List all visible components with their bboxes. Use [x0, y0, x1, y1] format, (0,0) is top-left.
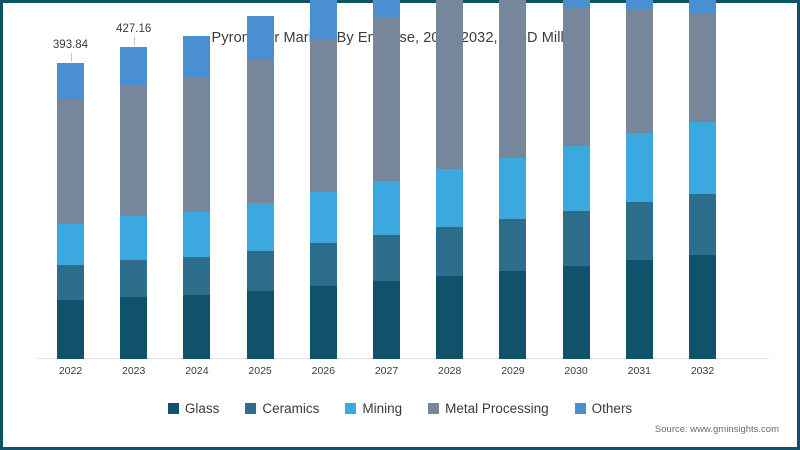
x-axis-tick-2029: 2029	[501, 365, 524, 377]
bar-segment-ceramics[interactable]	[310, 243, 337, 286]
bar-segment-mining[interactable]	[436, 169, 463, 227]
bar-segment-metal-processing[interactable]	[689, 14, 716, 122]
legend-item-glass[interactable]: Glass	[168, 401, 220, 416]
bar-segment-glass[interactable]	[499, 271, 526, 359]
legend-label: Metal Processing	[445, 401, 549, 416]
bar-segment-mining[interactable]	[120, 216, 147, 260]
bar-group-2030[interactable]: 2030	[563, 63, 590, 359]
bar-segment-metal-processing[interactable]	[183, 77, 210, 212]
bar-stack	[436, 0, 463, 359]
bar-segment-ceramics[interactable]	[626, 202, 653, 260]
bar-group-2028[interactable]: 2028	[436, 63, 463, 359]
bar-segment-others[interactable]	[120, 47, 147, 85]
value-leader-line	[134, 37, 135, 46]
bar-segment-metal-processing[interactable]	[57, 100, 84, 224]
bar-group-2027[interactable]: 2027	[373, 63, 400, 359]
bar-segment-mining[interactable]	[563, 146, 590, 211]
bar-group-2022[interactable]: 393.842022	[57, 63, 84, 359]
value-label-2022: 393.84	[53, 39, 88, 51]
legend-swatch-icon	[345, 403, 356, 414]
bar-segment-others[interactable]	[626, 0, 653, 9]
legend-swatch-icon	[245, 403, 256, 414]
bar-segment-mining[interactable]	[626, 133, 653, 202]
bar-group-2029[interactable]: 2029	[499, 63, 526, 359]
bar-segment-ceramics[interactable]	[436, 227, 463, 276]
legend-swatch-icon	[168, 403, 179, 414]
bar-segment-others[interactable]	[373, 0, 400, 17]
x-axis-tick-2032: 2032	[691, 365, 714, 377]
bar-segment-metal-processing[interactable]	[120, 85, 147, 216]
bar-segment-others[interactable]	[563, 0, 590, 8]
bar-segment-glass[interactable]	[436, 276, 463, 359]
legend-label: Mining	[362, 401, 402, 416]
bar-stack	[120, 47, 147, 359]
legend-label: Ceramics	[262, 401, 319, 416]
bar-segment-ceramics[interactable]	[120, 260, 147, 297]
bar-segment-others[interactable]	[57, 63, 84, 100]
bar-segment-mining[interactable]	[689, 122, 716, 194]
bar-segment-mining[interactable]	[183, 212, 210, 257]
bar-segment-mining[interactable]	[247, 203, 274, 251]
bar-segment-metal-processing[interactable]	[310, 39, 337, 192]
bar-stack	[499, 0, 526, 359]
bar-segment-metal-processing[interactable]	[563, 8, 590, 146]
x-axis-tick-2030: 2030	[564, 365, 587, 377]
x-axis-tick-2023: 2023	[122, 365, 145, 377]
source-note: Source: www.gminsights.com	[655, 424, 779, 435]
bar-stack	[310, 0, 337, 359]
bar-segment-ceramics[interactable]	[247, 251, 274, 291]
bar-segment-others[interactable]	[247, 16, 274, 60]
bar-segment-glass[interactable]	[563, 266, 590, 359]
bar-segment-glass[interactable]	[310, 286, 337, 359]
chart-frame: Pyrometer Market, By End-Use, 2022-2032,…	[0, 0, 800, 450]
x-axis-tick-2027: 2027	[375, 365, 398, 377]
bar-stack	[373, 0, 400, 359]
legend-item-mining[interactable]: Mining	[345, 401, 402, 416]
bar-stack	[689, 0, 716, 359]
legend-label: Others	[592, 401, 633, 416]
plot-area: 393.842022427.16202320242025202620272028…	[37, 63, 769, 359]
bar-stack	[626, 0, 653, 359]
bar-segment-ceramics[interactable]	[183, 257, 210, 295]
bar-segment-mining[interactable]	[373, 181, 400, 235]
legend-swatch-icon	[428, 403, 439, 414]
bar-segment-ceramics[interactable]	[373, 235, 400, 281]
bar-group-2025[interactable]: 2025	[247, 63, 274, 359]
x-axis-tick-2024: 2024	[185, 365, 208, 377]
bar-group-2024[interactable]: 2024	[183, 63, 210, 359]
bar-group-2031[interactable]: 2031	[626, 63, 653, 359]
bar-segment-metal-processing[interactable]	[499, 0, 526, 158]
bar-segment-others[interactable]	[310, 0, 337, 39]
x-axis-tick-2025: 2025	[248, 365, 271, 377]
legend-item-ceramics[interactable]: Ceramics	[245, 401, 319, 416]
bar-segment-glass[interactable]	[57, 300, 84, 359]
x-axis-tick-2028: 2028	[438, 365, 461, 377]
bar-segment-mining[interactable]	[310, 192, 337, 243]
bar-segment-glass[interactable]	[247, 291, 274, 359]
legend-swatch-icon	[575, 403, 586, 414]
chart-legend: GlassCeramicsMiningMetal ProcessingOther…	[3, 401, 797, 416]
bar-segment-metal-processing[interactable]	[436, 0, 463, 169]
x-axis-tick-2026: 2026	[312, 365, 335, 377]
legend-label: Glass	[185, 401, 220, 416]
bar-segment-mining[interactable]	[57, 224, 84, 265]
bar-stack	[57, 63, 84, 359]
bar-segment-ceramics[interactable]	[689, 194, 716, 255]
bar-stack	[563, 0, 590, 359]
bar-segment-glass[interactable]	[689, 255, 716, 359]
value-leader-line	[71, 53, 72, 62]
bar-stack	[247, 16, 274, 359]
bar-group-2023[interactable]: 427.162023	[120, 63, 147, 359]
bar-stack	[183, 36, 210, 359]
bar-segment-metal-processing[interactable]	[626, 9, 653, 133]
x-axis-tick-2022: 2022	[59, 365, 82, 377]
bar-segment-glass[interactable]	[183, 295, 210, 359]
bar-segment-ceramics[interactable]	[57, 265, 84, 300]
bar-segment-mining[interactable]	[499, 158, 526, 219]
bar-group-2032[interactable]: 2032	[689, 63, 716, 359]
bar-segment-ceramics[interactable]	[563, 211, 590, 266]
bar-segment-others[interactable]	[183, 36, 210, 77]
bar-segment-metal-processing[interactable]	[373, 17, 400, 181]
bar-segment-metal-processing[interactable]	[247, 60, 274, 203]
bar-segment-ceramics[interactable]	[499, 219, 526, 271]
legend-item-metal-processing[interactable]: Metal Processing	[428, 401, 549, 416]
value-label-2023: 427.16	[116, 23, 151, 35]
legend-item-others[interactable]: Others	[575, 401, 633, 416]
x-axis-tick-2031: 2031	[628, 365, 651, 377]
bar-segment-glass[interactable]	[373, 281, 400, 359]
bar-segment-others[interactable]	[689, 0, 716, 14]
bar-segment-glass[interactable]	[120, 297, 147, 359]
bar-segment-glass[interactable]	[626, 260, 653, 359]
bar-group-2026[interactable]: 2026	[310, 63, 337, 359]
